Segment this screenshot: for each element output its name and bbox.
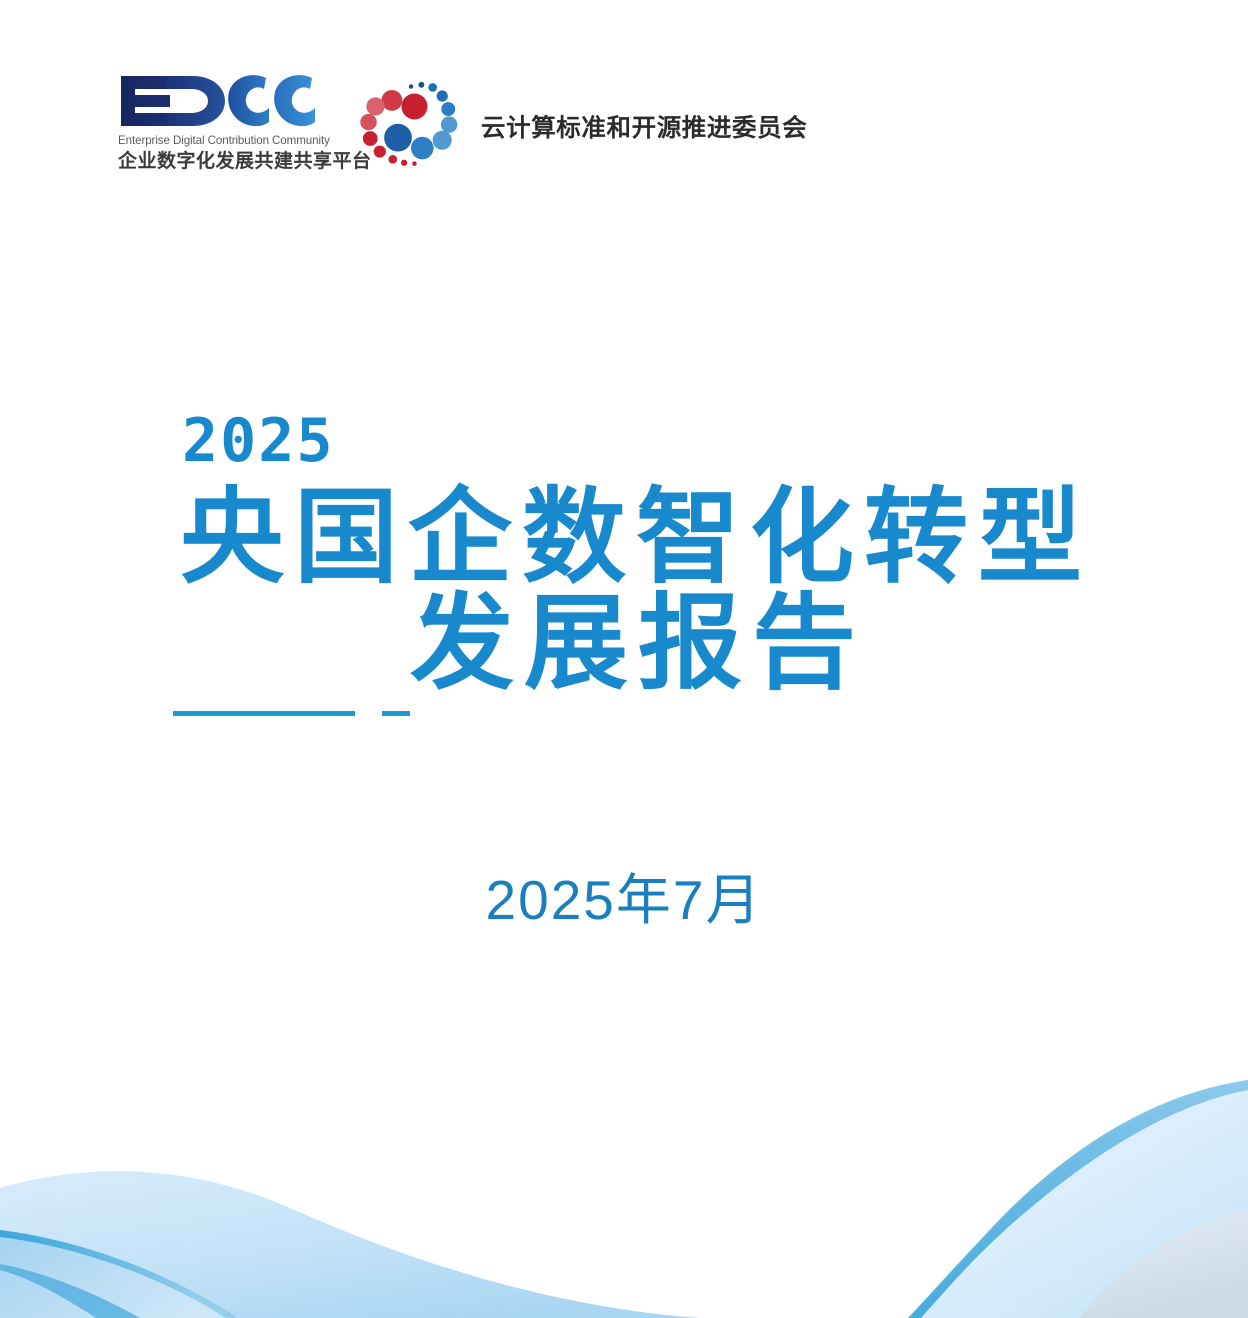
edcc-logo: Enterprise Digital Contribution Communit… xyxy=(118,72,323,174)
title-main-line-1: 央国企数智化转型 xyxy=(180,482,1248,594)
edcc-chinese-tagline: 企业数字化发展共建共享平台 xyxy=(118,150,323,174)
bottom-wave-graphic xyxy=(0,1058,1248,1318)
title-year: 2025 xyxy=(182,410,1248,472)
title-main-line-2: 发展报告 xyxy=(410,588,1248,700)
rule-long-segment xyxy=(173,711,355,716)
edcc-wordmark-logo-icon xyxy=(118,72,318,130)
edcc-english-tagline: Enterprise Digital Contribution Communit… xyxy=(118,134,323,148)
title-block: 2025 央国企数智化转型 发展报告 xyxy=(0,410,1248,700)
cover-page: Enterprise Digital Contribution Communit… xyxy=(0,0,1248,1318)
circular-dots-logo-icon xyxy=(357,77,465,181)
logo-bar: Enterprise Digital Contribution Communit… xyxy=(0,72,1248,192)
rule-short-segment xyxy=(382,711,410,716)
report-date: 2025年7月 xyxy=(0,866,1248,934)
ccsa-logo: 云计算标准和开源推进委员会 xyxy=(357,77,807,181)
ccsa-logo-text: 云计算标准和开源推进委员会 xyxy=(481,114,807,144)
title-underline-rule xyxy=(173,711,410,716)
